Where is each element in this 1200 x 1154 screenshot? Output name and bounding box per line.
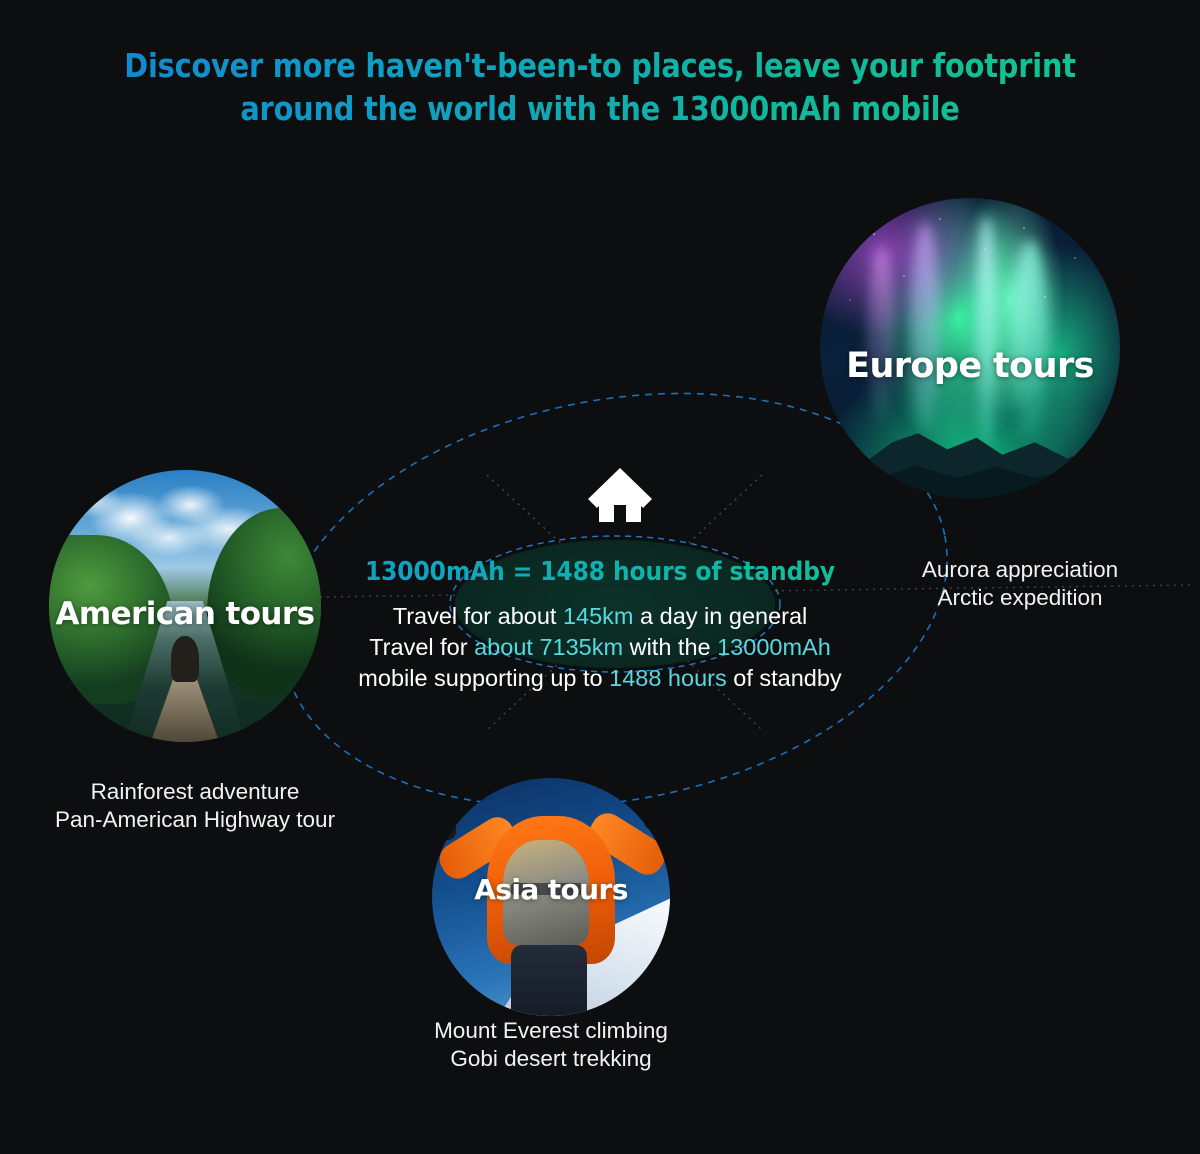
asia-tours-label: Asia tours — [432, 873, 670, 906]
node-europe[interactable]: Europe tours — [820, 198, 1120, 498]
body-line-3-pre: mobile supporting up to — [358, 665, 609, 691]
american-caption: Rainforest adventure Pan-American Highwa… — [25, 778, 365, 834]
body-line-1-post: a day in general — [634, 603, 808, 629]
europe-tours-circle[interactable]: Europe tours — [820, 198, 1120, 498]
body-line-2-pre: Travel for — [369, 634, 474, 660]
europe-tours-label: Europe tours — [820, 346, 1120, 386]
standby-stat-line: 13000mAh = 1488 hours of standby — [0, 557, 1200, 587]
page-headline: Discover more haven't-been-to places, le… — [18, 44, 1182, 130]
home-icon — [585, 465, 655, 525]
body-line-1-pre: Travel for about — [393, 603, 563, 629]
asia-tours-circle[interactable]: Asia tours — [432, 778, 670, 1016]
body-line-3-post: of standby — [727, 665, 842, 691]
asia-caption: Mount Everest climbing Gobi desert trekk… — [391, 1017, 711, 1073]
body-line-3: mobile supporting up to 1488 hours of st… — [0, 663, 1200, 694]
infographic-canvas: Discover more haven't-been-to places, le… — [0, 0, 1200, 1154]
body-line-3-highlight: 1488 hours — [609, 665, 727, 691]
node-asia[interactable]: Asia tours — [432, 778, 670, 1016]
body-line-1: Travel for about 145km a day in general — [0, 601, 1200, 632]
body-line-2: Travel for about 7135km with the 13000mA… — [0, 632, 1200, 663]
body-line-2-highlight-2: 13000mAh — [717, 634, 831, 660]
body-line-2-mid: with the — [623, 634, 717, 660]
center-body-text: Travel for about 145km a day in general … — [0, 601, 1200, 694]
body-line-2-highlight-1: about 7135km — [474, 634, 623, 660]
body-line-1-highlight: 145km — [563, 603, 634, 629]
